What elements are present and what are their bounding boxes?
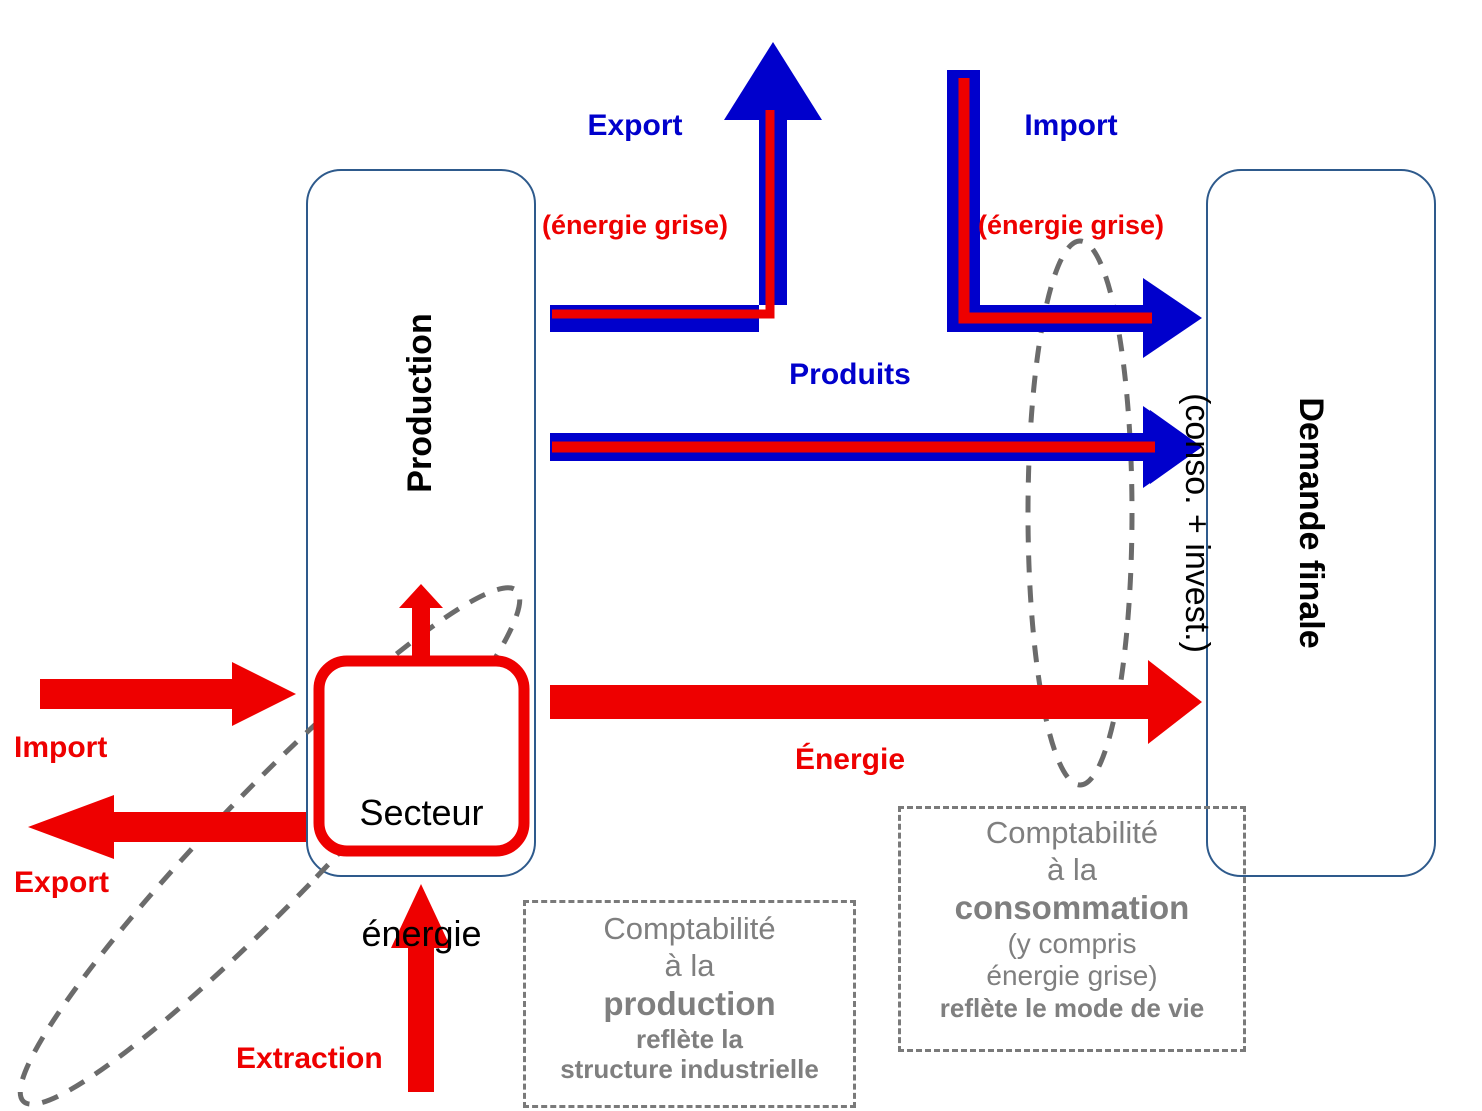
energy-sector-label-line1: Secteur [319, 793, 524, 833]
production-note-line5: structure industrielle [526, 1054, 853, 1084]
production-note-line3: production [526, 984, 853, 1024]
consumption-note-line2: à la [901, 852, 1243, 889]
diagram-canvas: Export (énergie grise) Import (énergie g… [0, 0, 1482, 1111]
consumption-note-line5: énergie grise) [901, 960, 1243, 992]
consumption-note-line6: reflète le mode de vie [901, 993, 1243, 1023]
export-energy-arrow [28, 795, 306, 859]
consumption-note-line1: Comptabilité [901, 815, 1243, 852]
production-note-line4: reflète la [526, 1024, 853, 1054]
export-grey-label-line1: Export [520, 109, 750, 143]
import-energy-arrow [40, 662, 296, 726]
import-grey-label-line1: Import [960, 109, 1182, 143]
production-accounting-note: Comptabilité à la production reflète la … [523, 900, 856, 1108]
export-grey-label-line2: (énergie grise) [520, 210, 750, 240]
consumption-note-line3: consommation [901, 888, 1243, 928]
products-label: Produits [700, 358, 1000, 392]
production-note-line1: Comptabilité [526, 911, 853, 948]
production-note-line2: à la [526, 948, 853, 985]
energy-label: Énergie [700, 743, 1000, 777]
import-grey-label-line2: (énergie grise) [960, 210, 1182, 240]
production-box-label: Production [401, 253, 441, 553]
final-demand-label-line2: (conso. + invest.) [1178, 308, 1216, 738]
import-grey-label: Import (énergie grise) [960, 42, 1182, 307]
consumption-note-line4: (y compris [901, 928, 1243, 960]
energy-sector-label-line2: énergie [319, 914, 524, 954]
export-grey-label: Export (énergie grise) [520, 42, 750, 307]
export-energy-label: Export [14, 866, 109, 900]
energy-sector-label: Secteur énergie [319, 712, 524, 1035]
extraction-label: Extraction [236, 1042, 383, 1076]
consumption-accounting-note: Comptabilité à la consommation (y compri… [898, 806, 1246, 1052]
import-energy-label: Import [14, 731, 107, 765]
final-demand-label-line1: Demande finale [1292, 308, 1330, 738]
final-demand-box-label: Demande finale (conso. + invest.) [1316, 308, 1406, 738]
